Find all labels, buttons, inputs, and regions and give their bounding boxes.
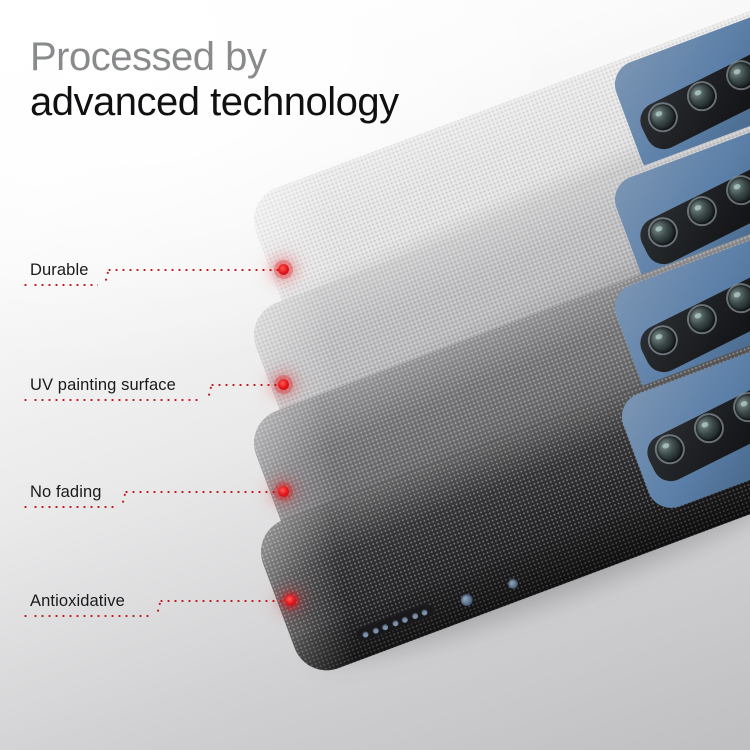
callout-label: Durable — [30, 261, 88, 280]
callout-riser — [104, 269, 110, 284]
callout-target-marker — [278, 486, 289, 497]
page-title: Processed by advanced technology — [30, 36, 399, 124]
product-feature-image: Processed by advanced technology Durable… — [0, 0, 750, 750]
title-line-1: Processed by — [30, 36, 399, 78]
callout-leader-line — [158, 600, 288, 602]
callout-tail-line — [22, 284, 30, 286]
callout-riser — [121, 491, 127, 506]
callout-underline — [32, 284, 98, 286]
callout-label: No fading — [30, 483, 102, 502]
callout-underline — [32, 506, 115, 508]
callout-riser — [207, 384, 213, 399]
callout-underline — [32, 615, 150, 617]
callout-tail-line — [22, 506, 30, 508]
title-line-2: advanced technology — [30, 81, 399, 123]
callout-underline — [32, 399, 201, 401]
callout-tail-line — [22, 399, 30, 401]
callout-target-marker — [278, 379, 289, 390]
callout-tail-line — [22, 615, 30, 617]
callout-target-marker — [285, 595, 296, 606]
callout-leader-line — [209, 384, 281, 386]
callout-riser — [156, 600, 162, 615]
callout-target-marker — [278, 264, 289, 275]
callout-leader-line — [123, 491, 281, 493]
callout-label: UV painting surface — [30, 376, 176, 395]
callout-leader-line — [106, 269, 281, 271]
callout-label: Antioxidative — [30, 592, 125, 611]
